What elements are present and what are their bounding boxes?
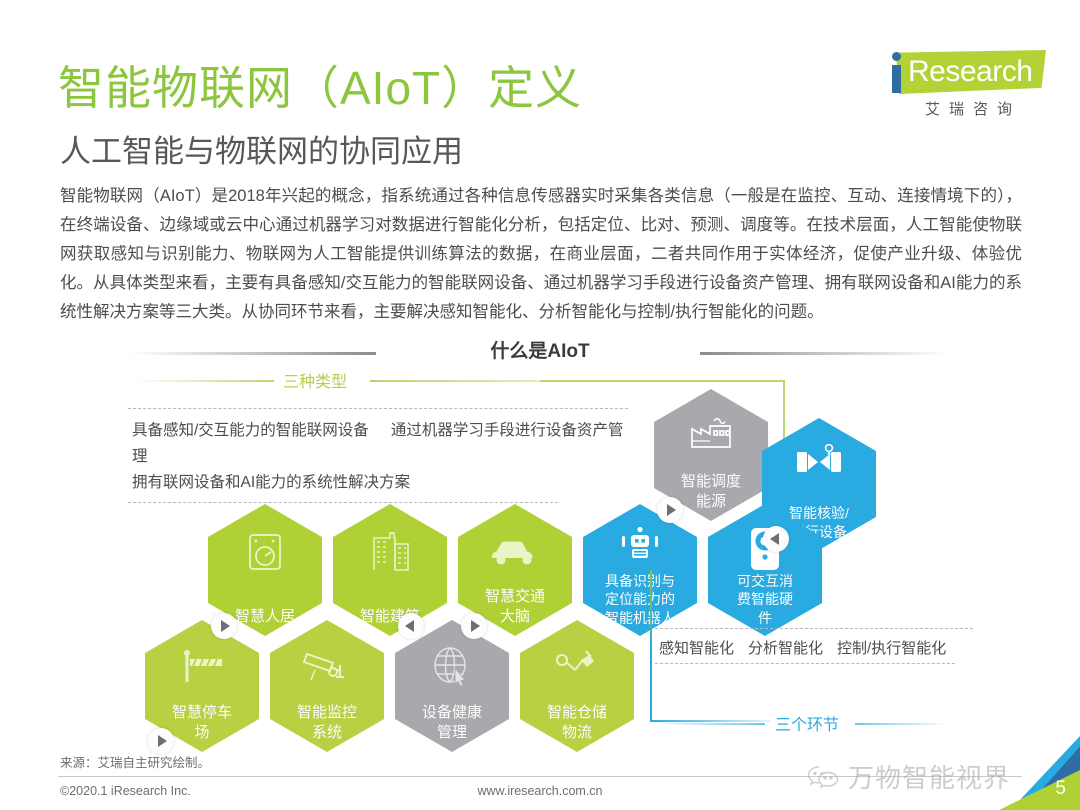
arrow-right-icon-1 — [657, 497, 683, 523]
green-bracket-horizontal — [540, 380, 785, 382]
hex-label: 智能监控系统 — [275, 703, 379, 743]
hex-node-smart-robot[interactable]: 具备识别与定位能力的智能机器人 — [583, 504, 697, 636]
hex-node-device-health-mgmt[interactable]: 设备健康管理 — [395, 620, 509, 752]
arrow-right-icon-3 — [461, 613, 487, 639]
logo-wordmark: Research — [908, 55, 1048, 89]
title-rule-right — [700, 352, 948, 355]
factory-icon — [654, 415, 768, 449]
source-note: 来源：艾瑞自主研究绘制。 — [60, 752, 210, 771]
car-icon — [458, 538, 572, 566]
arrow-right-icon-4 — [148, 728, 174, 754]
types-description-box: 具备感知/交互能力的智能联网设备通过机器学习手段进行设备资产管理 拥有联网设备和… — [128, 408, 638, 503]
page-subtitle: 人工智能与物联网的协同应用 — [60, 126, 463, 171]
barrier-gate-icon — [145, 648, 259, 684]
robot-arm-icon — [520, 648, 634, 686]
title-rule-left — [128, 352, 376, 355]
links-rule-left — [655, 723, 765, 725]
washer-icon — [208, 532, 322, 572]
types-rule-right — [370, 380, 540, 382]
hex-label: 智能仓储物流 — [525, 703, 629, 743]
hex-node-smart-warehouse-logistics[interactable]: 智能仓储物流 — [520, 620, 634, 752]
links-description-box: 感知智能化分析智能化控制/执行智能化 — [655, 628, 975, 664]
types-rule-left — [134, 380, 274, 382]
hex-label: 智能建筑 — [338, 607, 442, 627]
building-icon — [333, 530, 447, 572]
cyan-bracket-horizontal — [650, 720, 770, 722]
robot-icon — [583, 526, 697, 562]
cyan-bracket-vertical — [650, 570, 652, 722]
links-rule-right — [855, 723, 950, 725]
types-dashed-bottom — [128, 502, 558, 503]
links-dashed-bottom — [655, 663, 955, 664]
links-item-1: 感知智能化 — [659, 640, 734, 657]
page-number: 5 — [1055, 778, 1066, 800]
cctv-icon — [270, 648, 384, 686]
i-dot-icon — [892, 52, 901, 61]
diagram-area: 什么是AIoT 三种类型 具备感知/交互能力的智能联网设备通过机器学习手段进行设… — [0, 330, 1080, 760]
arrow-right-icon-2 — [211, 613, 237, 639]
links-item-3: 控制/执行智能化 — [837, 640, 946, 657]
hex-label: 可交互消费智能硬件 — [713, 572, 817, 628]
types-item-3: 拥有联网设备和AI能力的系统性解决方案 — [132, 474, 410, 491]
gate-icon — [762, 444, 876, 480]
hex-node-smart-building[interactable]: 智能建筑 — [333, 504, 447, 636]
hex-node-smart-surveillance[interactable]: 智能监控系统 — [270, 620, 384, 752]
slide-page: 智能物联网（AIoT）定义 人工智能与物联网的协同应用 Research 艾瑞咨… — [0, 0, 1080, 810]
links-group-label: 三个环节 — [775, 711, 839, 735]
types-group-label: 三种类型 — [283, 368, 347, 392]
links-items: 感知智能化分析智能化控制/执行智能化 — [655, 629, 975, 663]
iresearch-logo: Research 艾瑞咨询 — [878, 48, 1050, 126]
diagram-title: 什么是AIoT — [0, 336, 1080, 363]
i-stem-icon — [892, 65, 901, 93]
types-item-1: 具备感知/交互能力的智能联网设备 — [132, 422, 369, 439]
links-item-2: 分析智能化 — [748, 640, 823, 657]
types-items: 具备感知/交互能力的智能联网设备通过机器学习手段进行设备资产管理 拥有联网设备和… — [128, 409, 638, 502]
arrow-left-icon-1 — [763, 526, 789, 552]
body-paragraph: 智能物联网（AIoT）是2018年兴起的概念，指系统通过各种信息传感器实时采集各… — [60, 182, 1022, 327]
page-title: 智能物联网（AIoT）定义 — [58, 52, 582, 118]
wechat-icon — [807, 765, 841, 789]
logo-chinese-name: 艾瑞咨询 — [898, 98, 1048, 119]
arrow-left-icon-2 — [398, 613, 424, 639]
hex-label: 设备健康管理 — [400, 703, 504, 743]
hex-label: 具备识别与定位能力的智能机器人 — [588, 572, 692, 628]
globe-cursor-icon — [395, 646, 509, 688]
watermark: 万物智能视界 — [807, 758, 1010, 795]
